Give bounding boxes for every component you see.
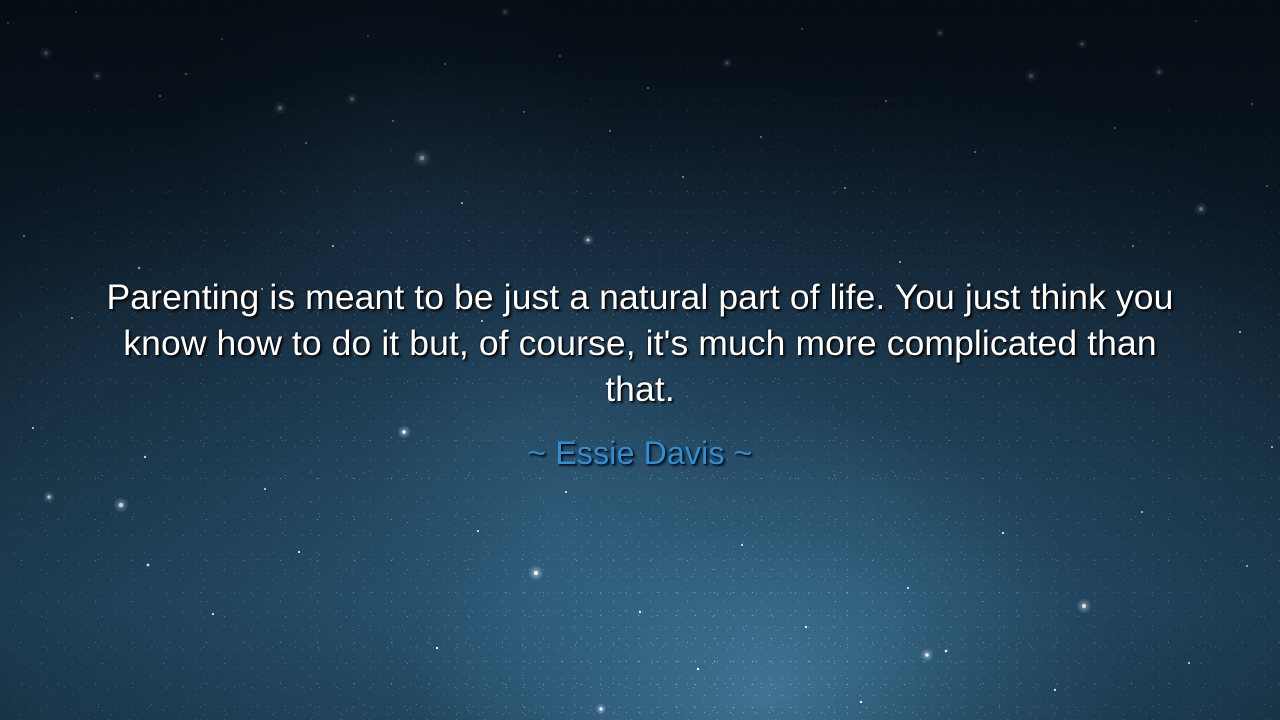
quote-attribution: ~ Essie Davis ~ (96, 434, 1184, 472)
quote-block: Parenting is meant to be just a natural … (0, 274, 1280, 472)
quote-image-canvas: Parenting is meant to be just a natural … (0, 0, 1280, 720)
quote-text: Parenting is meant to be just a natural … (96, 274, 1184, 412)
